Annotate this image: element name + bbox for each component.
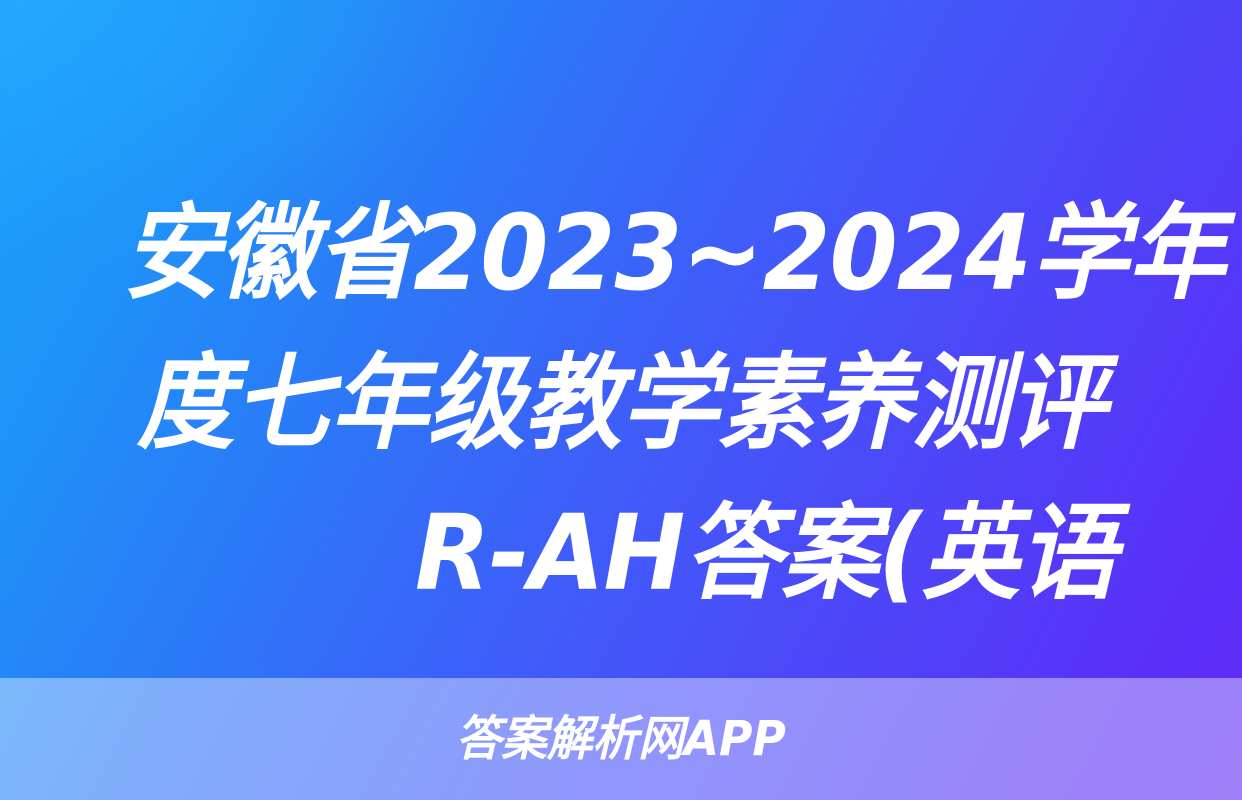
watermark-label: 答案解析网APP <box>456 714 786 764</box>
title-line-2: 度七年级教学素养测评 <box>123 328 1119 478</box>
footer-watermark-band: 答案解析网APP <box>0 678 1242 800</box>
poster-canvas: 安徽省2023~2024学年 度七年级教学素养测评 R-AH答案(英语 答案解析… <box>0 0 1242 800</box>
title-line-3: R-AH答案(英语 <box>119 478 1123 628</box>
title-block: 安徽省2023~2024学年 度七年级教学素养测评 R-AH答案(英语 <box>0 178 1242 638</box>
title-line-1: 安徽省2023~2024学年 <box>123 178 1119 328</box>
